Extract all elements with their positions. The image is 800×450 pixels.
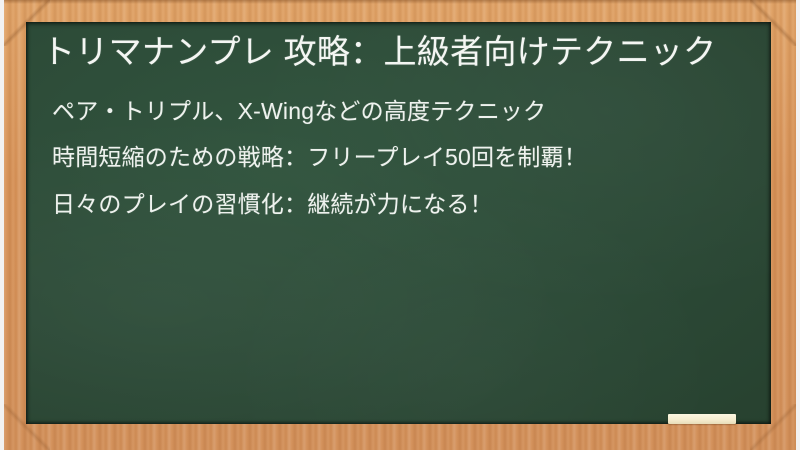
frame-top-shadow [4, 0, 796, 4]
chalkboard-slide: トリマナンプレ 攻略：上級者向けテクニック ペア・トリプル、X-Wingなどの高… [0, 0, 800, 450]
board-content: トリマナンプレ 攻略：上級者向けテクニック ペア・トリプル、X-Wingなどの高… [26, 22, 771, 220]
bullet-item-2: 時間短縮のための戦略：フリープレイ50回を制覇！ [40, 142, 757, 173]
bullet-item-1: ペア・トリプル、X-Wingなどの高度テクニック [40, 96, 757, 127]
bullet-item-3: 日々のプレイの習慣化：継続が力になる！ [40, 189, 757, 220]
slide-title: トリマナンプレ 攻略：上級者向けテクニック [40, 30, 757, 74]
bullet-list: ペア・トリプル、X-Wingなどの高度テクニック 時間短縮のための戦略：フリープ… [40, 96, 757, 220]
chalkboard-surface: トリマナンプレ 攻略：上級者向けテクニック ペア・トリプル、X-Wingなどの高… [26, 22, 771, 424]
chalk-stick-icon [668, 414, 736, 424]
